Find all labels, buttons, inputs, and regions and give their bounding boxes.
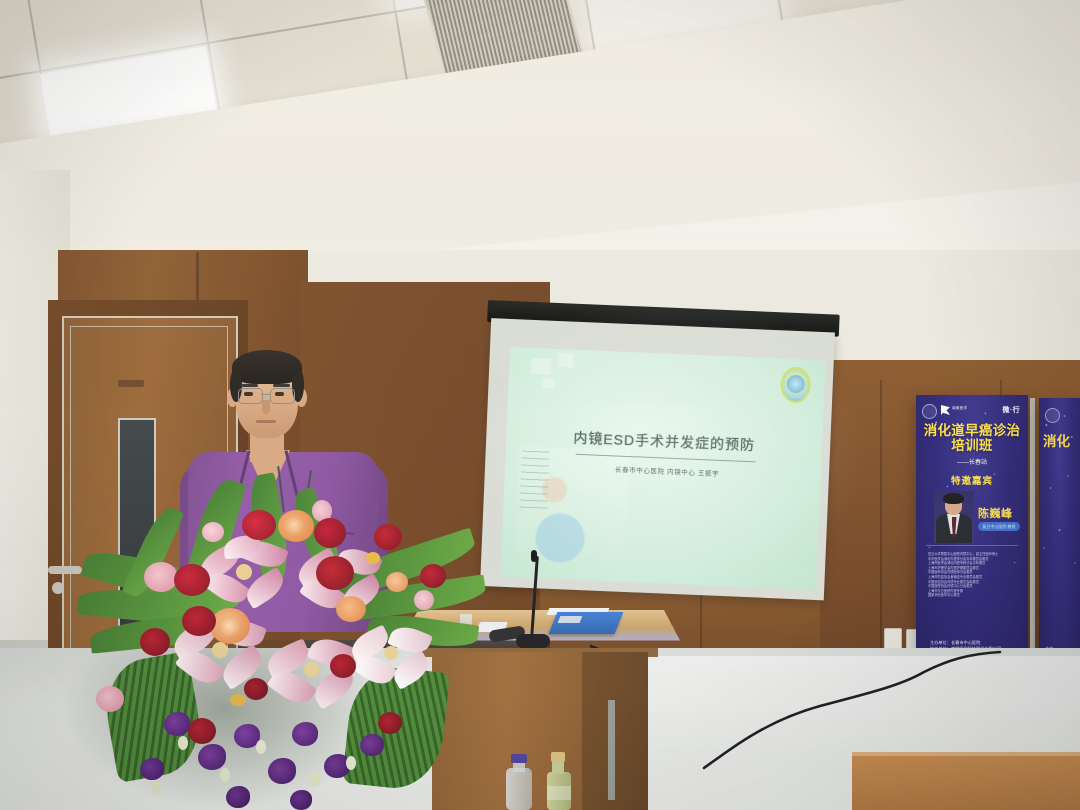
- water-bottle-cap[interactable]: [511, 754, 527, 763]
- purple-orchid: [140, 758, 164, 780]
- red-carnation: [188, 718, 216, 744]
- white-lily: [348, 618, 434, 692]
- beverage-bottle-label: [547, 786, 571, 800]
- presenter-mouth: [256, 420, 276, 423]
- eyeglasses-right-lens: [270, 388, 295, 404]
- slide-decoration: [557, 353, 574, 368]
- purple-orchid: [226, 786, 250, 808]
- red-carnation: [174, 564, 210, 596]
- water-bottle[interactable]: [506, 768, 532, 810]
- red-carnation: [244, 678, 268, 700]
- purple-orchid: [268, 758, 296, 784]
- yellow-accent-flower: [230, 694, 246, 706]
- presenter-nose: [262, 400, 270, 414]
- purple-orchid: [292, 722, 318, 746]
- eyeglasses-bridge: [261, 394, 270, 395]
- slide-decoration: [531, 358, 552, 375]
- purple-orchid: [360, 734, 384, 756]
- cream-bud: [178, 736, 188, 750]
- banner-secondary-title: 消化: [1043, 430, 1070, 450]
- sponsor-logo-text: 南微医学: [952, 406, 967, 411]
- flower-arrangement: [78, 468, 478, 810]
- red-carnation: [314, 518, 346, 548]
- bio-line: 国家消化医学中心委员: [928, 593, 1020, 598]
- purple-orchid: [164, 712, 190, 736]
- banner-station: ——长春站: [916, 457, 1028, 466]
- sponsor-bird-icon: [941, 405, 950, 415]
- campaign-logo-text: 微·行: [1002, 405, 1020, 415]
- power-outlet[interactable]: [884, 628, 902, 650]
- red-carnation: [140, 628, 170, 656]
- banner-title: 消化道早癌诊治 培训班: [916, 423, 1028, 453]
- cream-bud: [310, 772, 320, 786]
- red-carnation: [420, 564, 446, 588]
- cream-bud: [346, 756, 356, 770]
- hospital-emblem-icon: [922, 404, 937, 419]
- door-lock-icon[interactable]: [52, 582, 64, 594]
- purple-orchid: [198, 744, 226, 770]
- presenter-right-eyebrow: [273, 384, 290, 387]
- guest-portrait: [934, 491, 974, 543]
- hospital-emblem-icon: [780, 366, 811, 403]
- door-closer: [118, 380, 144, 387]
- beverage-bottle-neck: [552, 760, 564, 774]
- guest-role-badge: 复旦中山医院 教授: [978, 522, 1020, 531]
- red-carnation: [330, 654, 356, 678]
- yellow-accent-flower: [366, 552, 380, 564]
- wood-panel-seam: [880, 380, 882, 656]
- hospital-emblem-icon: [1045, 408, 1060, 423]
- door-handle[interactable]: [48, 566, 82, 574]
- cream-bud: [152, 780, 162, 794]
- pink-rose: [96, 686, 124, 712]
- conference-room-photo: 内镜ESD手术并发症的预防 长春市中心医院 内镜中心 王振宇 南微医学 微·行 …: [0, 0, 1080, 810]
- rose-center: [284, 516, 304, 534]
- cream-bud: [220, 768, 230, 782]
- banner-guest-label: 特邀嘉宾: [916, 473, 1028, 487]
- projection-screen: 内镜ESD手术并发症的预防 长春市中心医院 内镜中心 王振宇: [475, 300, 847, 615]
- red-carnation: [182, 606, 216, 636]
- banner-divider: [926, 545, 1018, 546]
- guest-name: 陈巍峰: [978, 505, 1013, 521]
- pink-lily: [196, 532, 292, 612]
- red-carnation: [378, 712, 402, 734]
- portrait-hair: [943, 493, 964, 504]
- cream-bud: [256, 740, 266, 754]
- binder-label: [558, 616, 583, 623]
- slide-illustration-lines: [519, 448, 549, 509]
- lectern-shadow: [582, 652, 648, 810]
- banner-logo-row: 南微医学 微·行: [922, 402, 1022, 418]
- banner-title-line2: 培训班: [916, 438, 1028, 453]
- emblem-inner: [786, 375, 805, 394]
- presentation-slide: 内镜ESD手术并发症的预防 长春市中心医院 内镜中心 王振宇: [500, 347, 825, 590]
- eyeglasses-left-lens: [238, 388, 263, 404]
- red-carnation: [316, 556, 354, 590]
- lectern-leg: [608, 700, 615, 800]
- slide-decoration: [542, 378, 554, 388]
- slide-subtitle: 长春市中心医院 内镜中心 王振宇: [615, 463, 805, 481]
- wooden-table: [852, 756, 1080, 810]
- pink-rosebud: [414, 590, 434, 610]
- presenter-left-eyebrow: [241, 384, 258, 387]
- orange-rosebud: [386, 572, 408, 592]
- rose-center: [218, 616, 240, 636]
- orange-rose: [336, 596, 366, 622]
- red-carnation: [242, 510, 276, 540]
- guest-bio-list: 复旦大学附属中山医院内镜中心，副主任医师博士中华医学会消化内镜学分会青年委员会委…: [928, 552, 1020, 598]
- red-carnation: [374, 524, 402, 550]
- pink-rosebud: [202, 522, 224, 542]
- microphone-capsule: [531, 550, 537, 562]
- pink-rose: [144, 562, 178, 592]
- banner-title-line1: 消化道早癌诊治: [916, 423, 1028, 438]
- purple-orchid: [290, 790, 312, 810]
- beverage-bottle-cap[interactable]: [551, 752, 565, 762]
